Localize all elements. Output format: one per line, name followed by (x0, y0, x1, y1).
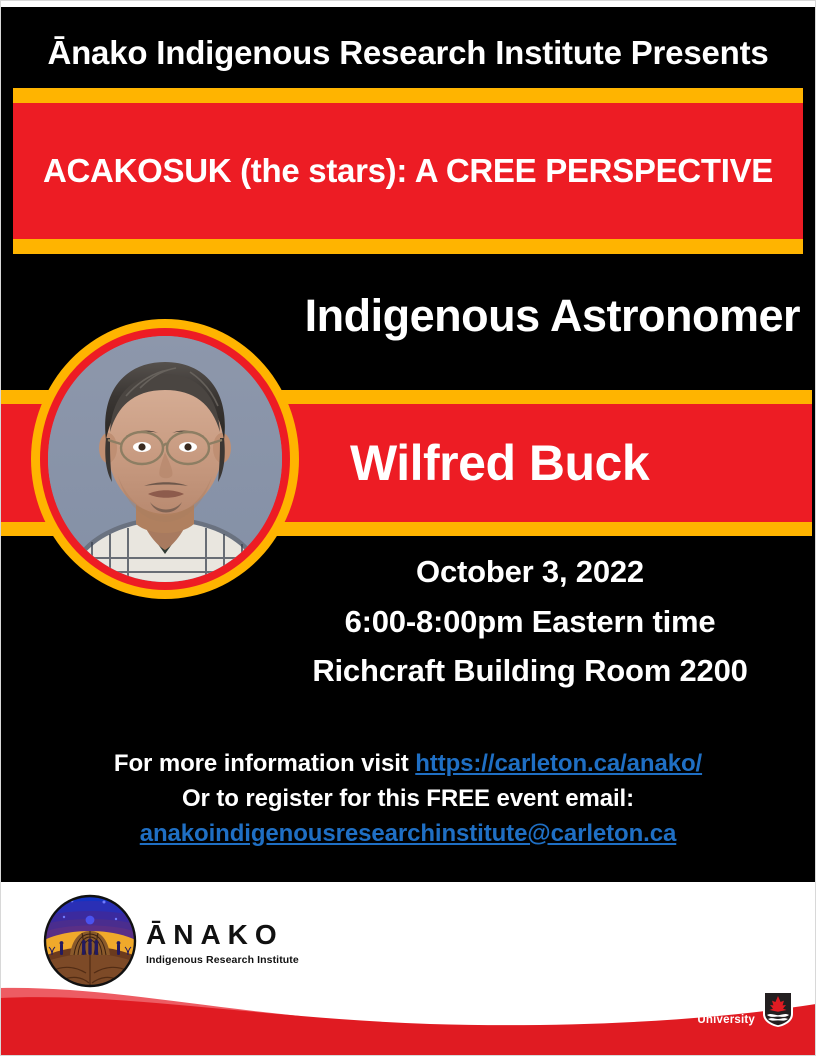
website-row: For more information visit https://carle… (0, 747, 816, 782)
poster-body: Ānako Indigenous Research Institute Pres… (0, 7, 816, 882)
anako-wordmark: ĀNAKO Indigenous Research Institute (146, 921, 299, 966)
anako-tagline: Indigenous Research Institute (146, 954, 299, 966)
website-prefix-label: For more information visit (114, 750, 415, 777)
event-date: October 3, 2022 (280, 547, 780, 597)
anako-name: ĀNAKO (146, 921, 299, 949)
carleton-name: Carleton (672, 992, 755, 1013)
avatar-ring (40, 328, 290, 590)
avatar (31, 319, 299, 599)
email-link[interactable]: anakoindigenousresearchinstitute@carleto… (140, 820, 677, 847)
contact-block: For more information visit https://carle… (0, 747, 816, 851)
event-location: Richcraft Building Room 2200 (280, 646, 780, 696)
anako-logo-icon (42, 893, 138, 989)
title-banner: ACAKOSUK (the stars): A CREE PERSPECTIVE (13, 88, 803, 254)
page-title: Ānako Indigenous Research Institute Pres… (0, 35, 816, 71)
carleton-subname: University (672, 1015, 755, 1027)
speaker-role: Indigenous Astronomer (305, 290, 800, 342)
register-label: Or to register for this FREE event email… (0, 782, 816, 817)
event-poster: Ānako Indigenous Research Institute Pres… (0, 0, 816, 1056)
event-title: ACAKOSUK (the stars): A CREE PERSPECTIVE (43, 152, 773, 190)
speaker-photo (48, 336, 282, 582)
website-link[interactable]: https://carleton.ca/anako/ (415, 750, 702, 777)
email-row: anakoindigenousresearchinstitute@carleto… (0, 817, 816, 852)
carleton-logo-text: Carleton University (672, 992, 755, 1027)
carleton-university-logo: Carleton University (672, 990, 794, 1028)
speaker-name: Wilfred Buck (350, 434, 649, 492)
event-details: October 3, 2022 6:00-8:00pm Eastern time… (280, 547, 780, 696)
carleton-shield-icon (762, 990, 794, 1028)
title-banner-inner: ACAKOSUK (the stars): A CREE PERSPECTIVE (13, 103, 803, 239)
event-time: 6:00-8:00pm Eastern time (280, 597, 780, 647)
